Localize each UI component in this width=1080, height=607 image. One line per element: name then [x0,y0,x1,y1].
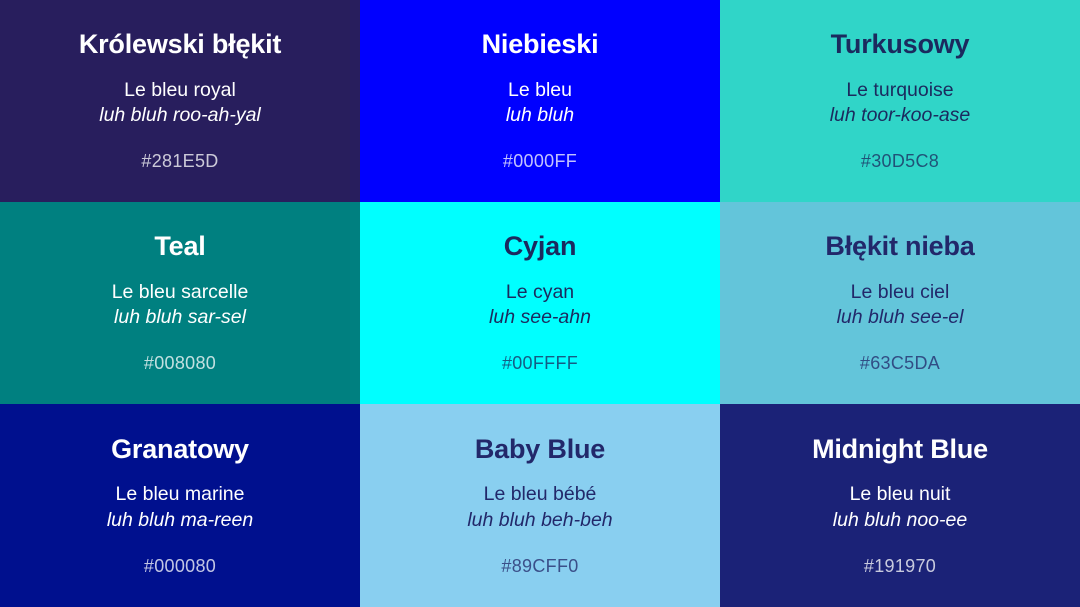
swatch-name: Cyjan [504,231,577,261]
swatch-translation: Le turquoise [846,78,953,104]
swatch-translation: Le bleu ciel [851,280,950,306]
swatch-hex-code: #000080 [144,556,216,578]
swatch-pronunciation: luh bluh [506,103,574,129]
swatch-hex-code: #191970 [864,556,936,578]
swatch-name: Niebieski [482,29,599,59]
color-swatch-granatowy: GranatowyLe bleu marineluh bluh ma-reen#… [0,404,360,607]
swatch-translation: Le bleu [508,78,572,104]
swatch-translation: Le cyan [506,280,574,306]
swatch-pronunciation: luh bluh beh-beh [467,508,612,534]
swatch-translation: Le bleu nuit [850,482,951,508]
swatch-hex-code: #281E5D [141,151,218,173]
swatch-translation: Le bleu sarcelle [112,280,249,306]
swatch-pronunciation: luh bluh sar-sel [114,305,246,331]
swatch-pronunciation: luh bluh see-el [837,305,964,331]
swatch-name: Królewski błękit [79,29,281,59]
swatch-name: Błękit nieba [825,231,974,261]
swatch-pronunciation: luh bluh roo-ah-yal [99,103,261,129]
swatch-name: Turkusowy [831,29,970,59]
color-swatch-krolewski-blekit: Królewski błękitLe bleu royalluh bluh ro… [0,0,360,202]
color-swatch-grid: Królewski błękitLe bleu royalluh bluh ro… [0,0,1080,607]
swatch-translation: Le bleu bébé [484,482,597,508]
swatch-translation: Le bleu royal [124,78,236,104]
color-swatch-teal: TealLe bleu sarcelleluh bluh sar-sel#008… [0,202,360,404]
color-swatch-turkusowy: TurkusowyLe turquoiseluh toor-koo-ase#30… [720,0,1080,202]
color-swatch-blekit-nieba: Błękit niebaLe bleu cielluh bluh see-el#… [720,202,1080,404]
color-swatch-cyjan: CyjanLe cyanluh see-ahn#00FFFF [360,202,720,404]
swatch-hex-code: #30D5C8 [861,151,939,173]
swatch-hex-code: #00FFFF [502,353,578,375]
color-swatch-midnight-blue: Midnight BlueLe bleu nuitluh bluh noo-ee… [720,404,1080,607]
swatch-hex-code: #0000FF [503,151,577,173]
swatch-hex-code: #008080 [144,353,216,375]
color-swatch-niebieski: NiebieskiLe bleuluh bluh#0000FF [360,0,720,202]
swatch-hex-code: #63C5DA [860,353,940,375]
swatch-name: Teal [154,231,205,261]
swatch-name: Granatowy [111,434,249,464]
swatch-pronunciation: luh see-ahn [489,305,591,331]
swatch-pronunciation: luh bluh noo-ee [833,508,967,534]
swatch-name: Midnight Blue [812,434,988,464]
swatch-pronunciation: luh toor-koo-ase [830,103,971,129]
swatch-translation: Le bleu marine [116,482,245,508]
swatch-name: Baby Blue [475,434,605,464]
swatch-pronunciation: luh bluh ma-reen [107,508,253,534]
color-swatch-baby-blue: Baby BlueLe bleu bébéluh bluh beh-beh#89… [360,404,720,607]
swatch-hex-code: #89CFF0 [501,556,578,578]
